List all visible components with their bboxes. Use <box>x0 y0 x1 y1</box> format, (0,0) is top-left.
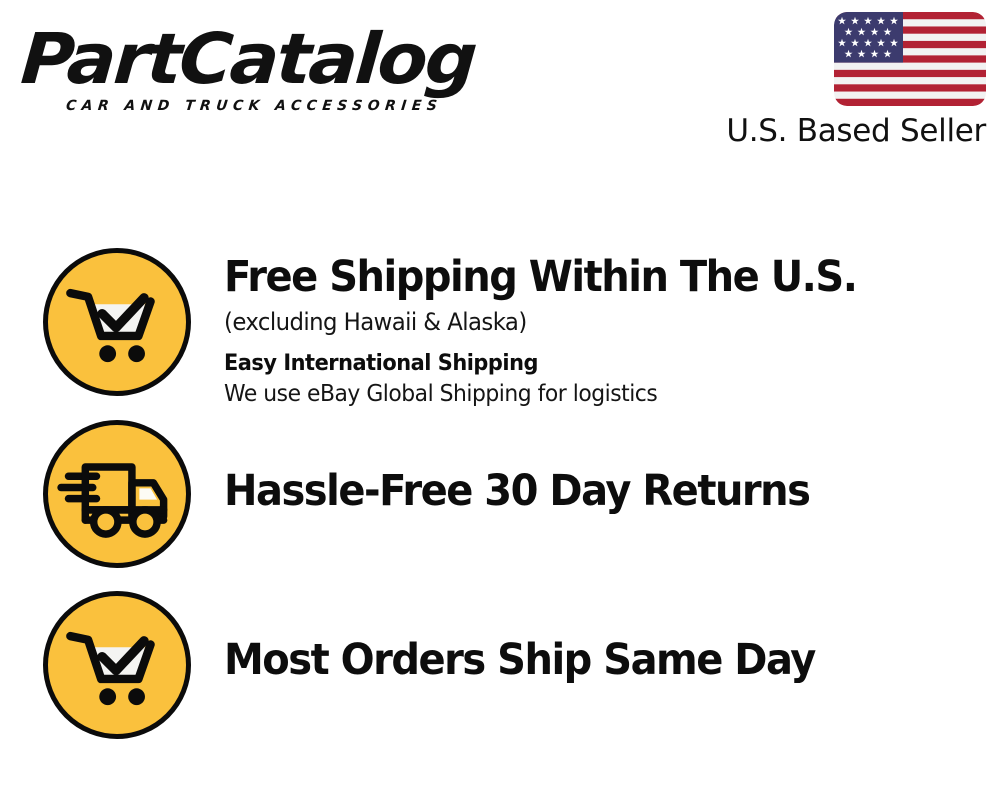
feature-heading: Hassle-Free 30 Day Returns <box>224 466 946 516</box>
promo-banner: PartCatalog CAR AND TRUCK ACCESSORIES <box>0 0 1000 800</box>
feature-heading: Free Shipping Within The U.S. <box>224 252 946 302</box>
shopping-cart-check-icon <box>43 591 191 739</box>
feature-note: (excluding Hawaii & Alaska) <box>224 306 961 338</box>
brand-tagline: CAR AND TRUCK ACCESSORIES <box>65 98 443 114</box>
us-based-seller-badge: U.S. Based Seller <box>666 12 986 150</box>
banner-header: PartCatalog CAR AND TRUCK ACCESSORIES <box>0 0 1000 175</box>
brand-logo: PartCatalog CAR AND TRUCK ACCESSORIES <box>24 22 494 117</box>
shopping-cart-check-icon <box>43 248 191 396</box>
us-flag-icon <box>834 12 986 106</box>
feature-heading: Most Orders Ship Same Day <box>224 635 946 685</box>
feature-text-block: Hassle-Free 30 Day Returns <box>191 420 1000 516</box>
feature-subheading: Easy International Shipping <box>224 349 961 378</box>
feature-row: Free Shipping Within The U.S. (excluding… <box>0 248 1000 416</box>
feature-text-block: Free Shipping Within The U.S. (excluding… <box>191 248 1000 410</box>
us-based-seller-label: U.S. Based Seller <box>666 112 986 150</box>
delivery-truck-icon <box>43 420 191 568</box>
feature-subnote: We use eBay Global Shipping for logistic… <box>224 379 961 410</box>
brand-wordmark: PartCatalog <box>19 22 513 96</box>
feature-row: Most Orders Ship Same Day <box>0 591 1000 759</box>
feature-text-block: Most Orders Ship Same Day <box>191 591 1000 685</box>
feature-row: Hassle-Free 30 Day Returns <box>0 420 1000 588</box>
